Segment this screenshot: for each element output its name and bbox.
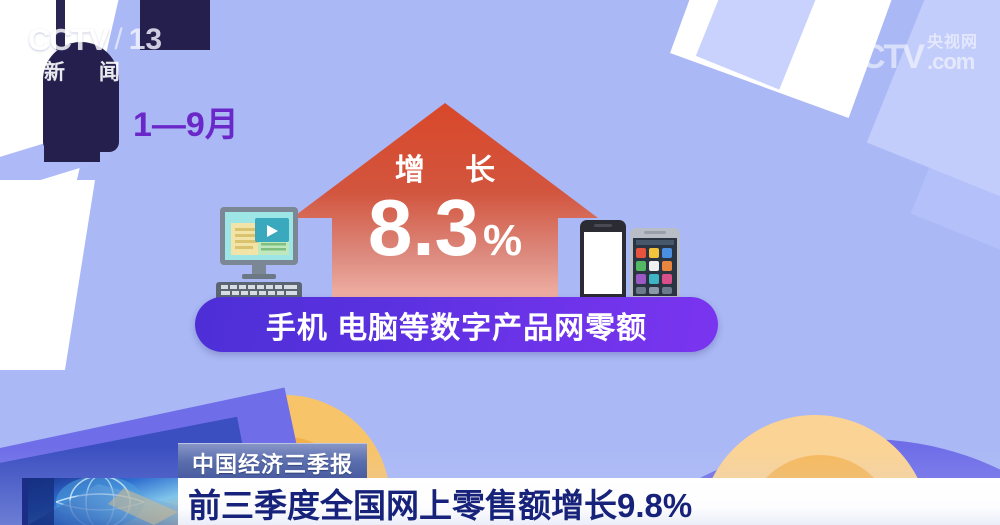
chyron-headline: 前三季度全国网上零售额增长9.8%: [178, 478, 1000, 525]
cctv-logo-text: CCTV: [28, 22, 108, 58]
bg-white-wedge-left-lower: [0, 180, 95, 370]
growth-value-number: 8.3: [368, 185, 479, 271]
channel-bug: CCTV / 13: [28, 22, 162, 58]
bg-dark-rect-lower: [44, 140, 100, 162]
broadcast-screenshot: CCTV / 13 新 闻 CCTV 央视网 .com 1—9月: [0, 0, 1000, 525]
cctv-logo-slash: /: [114, 23, 122, 57]
chyron-kicker-text: 中国经济三季报: [192, 447, 353, 479]
cctv-com-watermark: CCTV 央视网 .com: [838, 28, 978, 77]
watermark-right-group: 央视网 .com: [927, 28, 978, 75]
globe-graphic: [22, 478, 188, 525]
cctv-channel-number: 13: [129, 23, 162, 57]
channel-bug-subtitle: 新 闻: [44, 56, 134, 86]
arrow-growth-value: 8.3 %: [290, 185, 600, 284]
category-banner-label: 手机 电脑等数字产品网零额: [266, 303, 647, 347]
growth-value-unit: %: [483, 198, 522, 284]
watermark-com-text: .com: [927, 49, 974, 75]
period-label: 1—9月: [133, 97, 239, 146]
watermark-cctv-text: CCTV: [838, 38, 923, 77]
chyron-headline-text: 前三季度全国网上零售额增长9.8%: [188, 479, 692, 525]
category-banner: 手机 电脑等数字产品网零额: [195, 297, 718, 352]
chyron-kicker: 中国经济三季报: [178, 443, 367, 482]
